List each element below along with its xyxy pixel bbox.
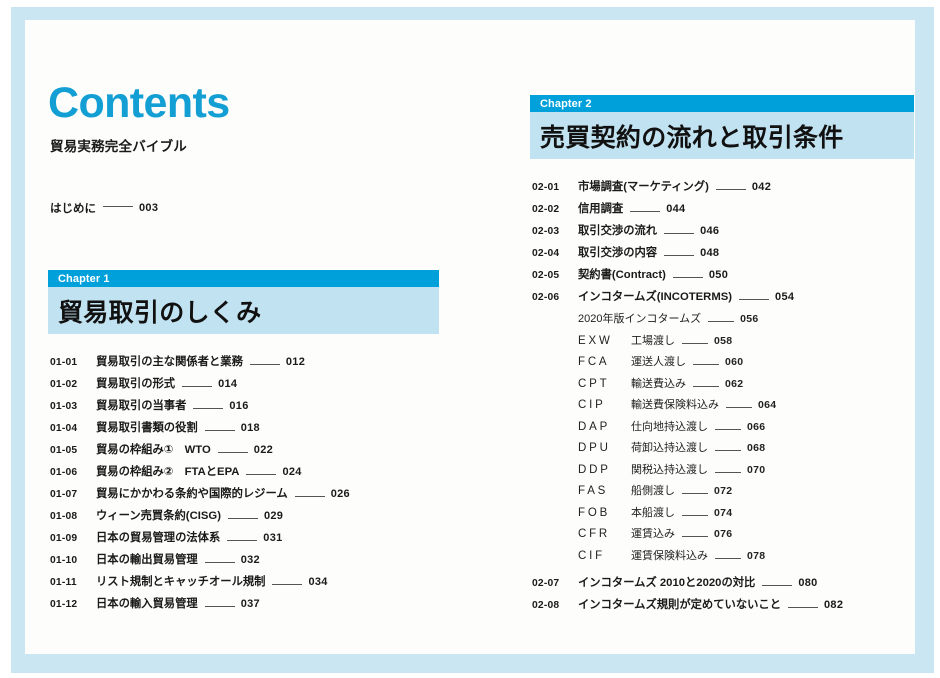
toc-entry[interactable]: 02-08インコタームズ規則が定めていないこと082	[532, 596, 932, 618]
toc-entry-page: 029	[264, 510, 283, 522]
toc-entry-title: インコタームズ(INCOTERMS)	[578, 288, 732, 304]
leader-rule	[193, 408, 223, 409]
chapter-1-title-box: 貿易取引のしくみ	[48, 287, 439, 334]
book-subtitle: 貿易実務完全バイブル	[50, 135, 187, 155]
chapter-2-number: Chapter 2	[540, 98, 592, 110]
leader-rule	[228, 518, 258, 519]
toc-entry-title: 貿易取引の主な関係者と業務	[96, 353, 243, 369]
toc-entry[interactable]: 01-03貿易取引の当事者016	[50, 397, 450, 419]
leader-rule	[716, 189, 746, 190]
toc-sub-entry-title: 仕向地持込渡し	[631, 418, 708, 434]
incoterm-code: CFR	[578, 528, 622, 540]
page-title: Contents	[48, 82, 230, 125]
toc-entry-title: 貿易取引の当事者	[96, 397, 186, 413]
toc-entry-title: 貿易の枠組み② FTAとEPA	[96, 463, 239, 479]
toc-entry-page: 054	[775, 291, 794, 303]
toc-entry-number: 01-12	[50, 599, 96, 610]
toc-entry-page: 031	[263, 532, 282, 544]
toc-entry-title: 日本の貿易管理の法体系	[96, 529, 220, 545]
toc-entry-number: 02-04	[532, 248, 578, 259]
toc-entry[interactable]: 02-05契約書(Contract)050	[532, 266, 932, 288]
toc-sub-entry[interactable]: CPT輸送費込み062	[532, 375, 932, 397]
toc-sub-entry-page: 062	[725, 378, 743, 390]
toc-sub-entry-title: 本船渡し	[631, 504, 675, 520]
toc-entry[interactable]: 01-09日本の貿易管理の法体系031	[50, 529, 450, 551]
toc-entry[interactable]: 01-01貿易取引の主な関係者と業務012	[50, 353, 450, 375]
toc-entry-page: 050	[709, 269, 728, 281]
leader-rule	[715, 472, 741, 473]
toc-sub-entry[interactable]: FAS船側渡し072	[532, 482, 932, 504]
toc-entry-number: 02-01	[532, 182, 578, 193]
toc-sub-entry-page: 066	[747, 421, 765, 433]
leader-rule	[788, 607, 818, 608]
toc-sub-entry[interactable]: DDP関税込持込渡し070	[532, 461, 932, 483]
chapter-2-title-box: 売買契約の流れと取引条件	[530, 112, 914, 159]
toc-sub-entry-page: 074	[714, 507, 732, 519]
intro-entry[interactable]: はじめに 003	[50, 200, 158, 216]
toc-entry-title: 契約書(Contract)	[578, 266, 666, 282]
leader-rule	[664, 255, 694, 256]
toc-sub-entry-page: 058	[714, 335, 732, 347]
toc-sub-entry-title: 関税込持込渡し	[631, 461, 708, 477]
incoterm-code: FAS	[578, 485, 622, 497]
toc-sub-entry[interactable]: DPU荷卸込持込渡し068	[532, 439, 932, 461]
toc-entry-number: 01-11	[50, 577, 96, 588]
toc-entry-number: 01-01	[50, 357, 96, 368]
toc-entry-page: 026	[331, 488, 350, 500]
toc-entry-number: 02-08	[532, 600, 578, 611]
toc-entry[interactable]: 01-12日本の輸入貿易管理037	[50, 595, 450, 617]
intro-label: はじめに	[50, 200, 96, 216]
leader-rule	[250, 364, 280, 365]
toc-entry-number: 02-02	[532, 204, 578, 215]
toc-entry-title: 貿易取引の形式	[96, 375, 175, 391]
leader-rule	[673, 277, 703, 278]
toc-entry[interactable]: 02-03取引交渉の流れ046	[532, 222, 932, 244]
toc-entry-page: 022	[254, 444, 273, 456]
leader-rule	[715, 450, 741, 451]
toc-sub-entry-title: 運賃保険料込み	[631, 547, 708, 563]
toc-sub-entry-page: 056	[740, 313, 758, 325]
intro-page: 003	[139, 202, 158, 214]
incoterm-code: DAP	[578, 421, 622, 433]
leader-rule	[630, 211, 660, 212]
toc-entry-page: 018	[241, 422, 260, 434]
toc-sub-entry-page: 060	[725, 356, 743, 368]
toc-entry-number: 02-05	[532, 270, 578, 281]
leader-rule	[762, 585, 792, 586]
toc-entry[interactable]: 02-01市場調査(マーケティング)042	[532, 178, 932, 200]
leader-rule	[295, 496, 325, 497]
chapter-2-toc-list: 02-01市場調査(マーケティング)04202-02信用調査04402-03取引…	[532, 178, 932, 618]
leader-rule	[682, 536, 708, 537]
chapter-1-number: Chapter 1	[58, 273, 110, 285]
chapter-1-title: 貿易取引のしくみ	[58, 293, 261, 329]
toc-entry-page: 012	[286, 356, 305, 368]
toc-entry[interactable]: 01-04貿易取引書類の役割018	[50, 419, 450, 441]
toc-entry-number: 01-02	[50, 379, 96, 390]
toc-entry[interactable]: 02-04取引交渉の内容048	[532, 244, 932, 266]
leader-rule	[682, 343, 708, 344]
toc-entry-page: 034	[308, 576, 327, 588]
toc-entry-page: 082	[824, 599, 843, 611]
toc-entry-number: 01-08	[50, 511, 96, 522]
leader-rule	[205, 562, 235, 563]
toc-entry-number: 01-05	[50, 445, 96, 456]
toc-entry-page: 032	[241, 554, 260, 566]
incoterm-code: DPU	[578, 442, 622, 454]
incoterm-code: EXW	[578, 335, 622, 347]
toc-entry-number: 02-06	[532, 292, 578, 303]
leader-rule	[715, 558, 741, 559]
leader-rule	[246, 474, 276, 475]
toc-entry[interactable]: 01-07貿易にかかわる条約や国際的レジーム026	[50, 485, 450, 507]
leader-rule	[218, 452, 248, 453]
chapter-2-number-bar: Chapter 2	[530, 95, 914, 112]
leader-rule	[726, 407, 752, 408]
toc-sub-entry-page: 078	[747, 550, 765, 562]
toc-entry[interactable]: 02-02信用調査044	[532, 200, 932, 222]
toc-sub-entry-title: 運送人渡し	[631, 353, 686, 369]
toc-entry-page: 037	[241, 598, 260, 610]
toc-entry[interactable]: 02-06インコタームズ(INCOTERMS)054	[532, 288, 932, 310]
leader-rule	[227, 540, 257, 541]
toc-sub-entry[interactable]: DAP仕向地持込渡し066	[532, 418, 932, 440]
toc-entry-page: 024	[282, 466, 301, 478]
toc-entry-page: 014	[218, 378, 237, 390]
toc-entry-number: 01-09	[50, 533, 96, 544]
leader-rule	[205, 430, 235, 431]
toc-entry-number: 01-06	[50, 467, 96, 478]
toc-sub-entry-title: 船側渡し	[631, 482, 675, 498]
toc-entry-number: 01-07	[50, 489, 96, 500]
toc-entry-page: 048	[700, 247, 719, 259]
toc-sub-entry-page: 064	[758, 399, 776, 411]
toc-sub-entry[interactable]: CIP輸送費保険料込み064	[532, 396, 932, 418]
toc-entry-title: 市場調査(マーケティング)	[578, 178, 709, 194]
toc-entry[interactable]: 02-07インコタームズ 2010と2020の対比080	[532, 574, 932, 596]
toc-entry[interactable]: 01-11リスト規制とキャッチオール規制034	[50, 573, 450, 595]
toc-sub-entry[interactable]: FCA運送人渡し060	[532, 353, 932, 375]
toc-entry-number: 01-04	[50, 423, 96, 434]
toc-sub-entry-title: 工場渡し	[631, 332, 675, 348]
toc-entry-title: インコタームズ規則が定めていないこと	[578, 596, 781, 612]
toc-entry-page: 080	[798, 577, 817, 589]
page-surface: Contents 貿易実務完全バイブル はじめに 003 Chapter 1 貿…	[25, 20, 915, 654]
chapter-1-toc-list: 01-01貿易取引の主な関係者と業務01201-02貿易取引の形式01401-0…	[50, 353, 450, 617]
toc-sub-entry-page: 068	[747, 442, 765, 454]
toc-entry-page: 044	[666, 203, 685, 215]
chapter-2-header: Chapter 2 売買契約の流れと取引条件	[530, 95, 914, 159]
toc-entry-title: 日本の輸入貿易管理	[96, 595, 198, 611]
toc-entry-number: 01-10	[50, 555, 96, 566]
toc-entry-title: リスト規制とキャッチオール規制	[96, 573, 265, 589]
leader-rule	[682, 515, 708, 516]
toc-entry-title: 取引交渉の内容	[578, 244, 657, 260]
toc-entry[interactable]: 01-02貿易取引の形式014	[50, 375, 450, 397]
toc-tail-group: 02-07インコタームズ 2010と2020の対比08002-08インコタームズ…	[532, 574, 932, 618]
leader-rule	[205, 606, 235, 607]
book-spread: Contents 貿易実務完全バイブル はじめに 003 Chapter 1 貿…	[0, 0, 940, 678]
toc-entry-page: 042	[752, 181, 771, 193]
chapter-2-title: 売買契約の流れと取引条件	[540, 118, 844, 154]
toc-sub-entry[interactable]: CIF運賃保険料込み078	[532, 547, 932, 569]
leader-rule	[693, 386, 719, 387]
incoterm-code: CPT	[578, 378, 622, 390]
toc-sub-entry-page: 072	[714, 485, 732, 497]
leader-rule	[693, 364, 719, 365]
incoterm-code: FOB	[578, 507, 622, 519]
toc-entry[interactable]: 01-06貿易の枠組み② FTAとEPA024	[50, 463, 450, 485]
toc-entry-number: 02-03	[532, 226, 578, 237]
incoterm-code: CIP	[578, 399, 622, 411]
toc-entry[interactable]: 01-10日本の輸出貿易管理032	[50, 551, 450, 573]
incoterm-code: FCA	[578, 356, 622, 368]
toc-sub-entry-title: 輸送費込み	[631, 375, 686, 391]
toc-entry-number: 02-07	[532, 578, 578, 589]
toc-entry-title: ウィーン売買条約(CISG)	[96, 507, 221, 523]
leader-rule	[103, 206, 133, 207]
toc-sub-entry-page: 070	[747, 464, 765, 476]
toc-sub-entry-title: 2020年版インコタームズ	[578, 310, 701, 326]
toc-entry-title: 取引交渉の流れ	[578, 222, 657, 238]
left-page: Contents 貿易実務完全バイブル はじめに 003 Chapter 1 貿…	[48, 20, 448, 654]
chapter-1-header: Chapter 1 貿易取引のしくみ	[48, 270, 439, 334]
leader-rule	[664, 233, 694, 234]
toc-entry[interactable]: 01-05貿易の枠組み① WTO022	[50, 441, 450, 463]
toc-entry-page: 016	[229, 400, 248, 412]
incoterm-code: CIF	[578, 550, 622, 562]
chapter-1-number-bar: Chapter 1	[48, 270, 439, 287]
toc-sub-entry-title: 輸送費保険料込み	[631, 396, 719, 412]
toc-entry-title: 貿易にかかわる条約や国際的レジーム	[96, 485, 288, 501]
toc-entry-title: 日本の輸出貿易管理	[96, 551, 198, 567]
toc-sub-entry-page: 076	[714, 528, 732, 540]
toc-entry-title: 貿易取引書類の役割	[96, 419, 198, 435]
toc-sub-entry-title: 荷卸込持込渡し	[631, 439, 708, 455]
toc-sub-entry[interactable]: EXW工場渡し058	[532, 332, 932, 354]
leader-rule	[682, 493, 708, 494]
leader-rule	[182, 386, 212, 387]
toc-entry-page: 046	[700, 225, 719, 237]
leader-rule	[708, 321, 734, 322]
leader-rule	[715, 429, 741, 430]
toc-sub-entry[interactable]: 2020年版インコタームズ056	[532, 310, 932, 332]
incoterm-code: DDP	[578, 464, 622, 476]
toc-sub-entry-title: 運賃込み	[631, 525, 675, 541]
toc-entry-title: 貿易の枠組み① WTO	[96, 441, 211, 457]
leader-rule	[272, 584, 302, 585]
leader-rule	[739, 299, 769, 300]
toc-entry-number: 01-03	[50, 401, 96, 412]
toc-sub-entry[interactable]: CFR運賃込み076	[532, 525, 932, 547]
toc-entry[interactable]: 01-08ウィーン売買条約(CISG)029	[50, 507, 450, 529]
toc-entry-title: 信用調査	[578, 200, 623, 216]
toc-entry-title: インコタームズ 2010と2020の対比	[578, 574, 755, 590]
toc-sub-entry[interactable]: FOB本船渡し074	[532, 504, 932, 526]
right-page: Chapter 2 売買契約の流れと取引条件 02-01市場調査(マーケティング…	[530, 20, 930, 654]
